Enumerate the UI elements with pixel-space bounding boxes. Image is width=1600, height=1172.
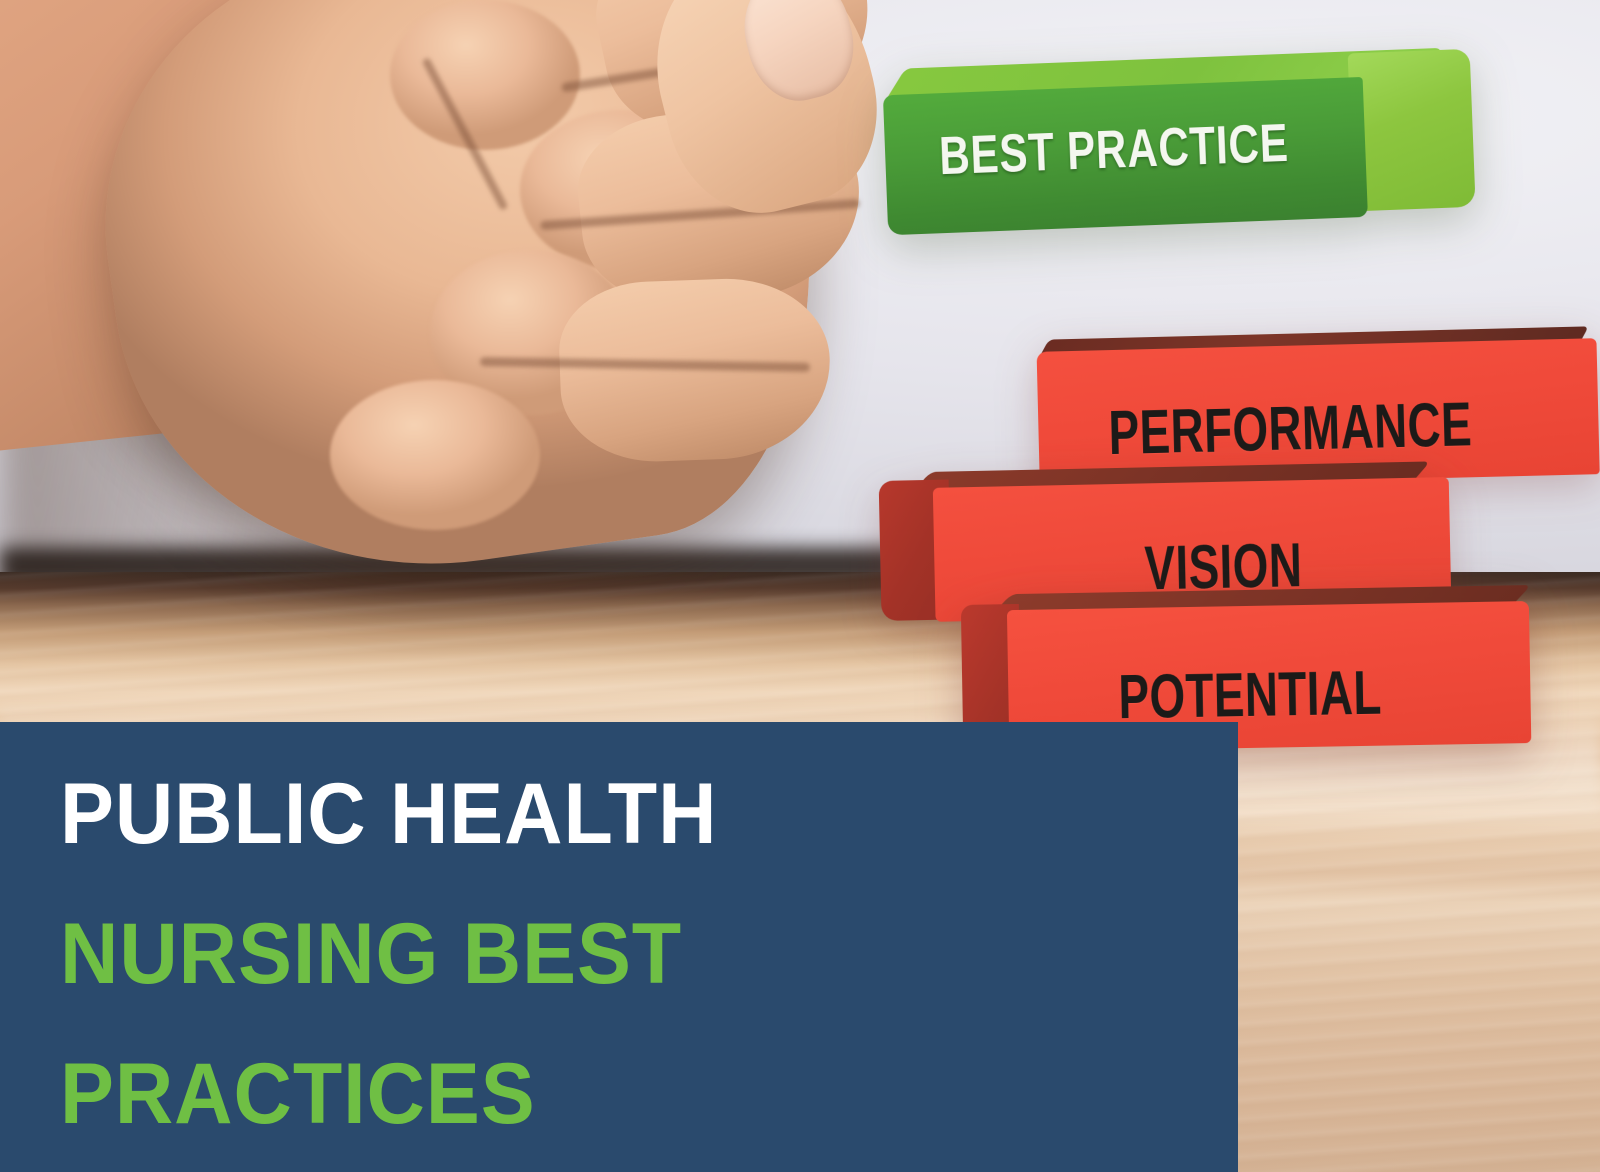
title-panel: PUBLIC HEALTH NURSING BEST PRACTICES bbox=[0, 722, 1238, 1172]
block-label-best-practice: BEST PRACTICE bbox=[938, 113, 1268, 188]
poster-canvas: BEST PRACTICE PERFORMANCE VISION POTENTI… bbox=[0, 0, 1600, 1172]
knuckle-1 bbox=[390, 0, 580, 150]
hand-holding-block bbox=[0, 0, 970, 680]
title-line-practices: PRACTICES bbox=[60, 1024, 1103, 1164]
title-line-nursing-best: NURSING BEST bbox=[60, 884, 1103, 1024]
title-line-public-health: PUBLIC HEALTH bbox=[60, 744, 1103, 884]
block-best-practice: BEST PRACTICE bbox=[882, 47, 1478, 242]
green-block-end-face bbox=[1348, 49, 1476, 212]
block-label-performance: PERFORMANCE bbox=[1108, 389, 1473, 469]
page-title: PUBLIC HEALTH NURSING BEST PRACTICES bbox=[60, 744, 1170, 1164]
knuckle-4 bbox=[330, 380, 540, 530]
